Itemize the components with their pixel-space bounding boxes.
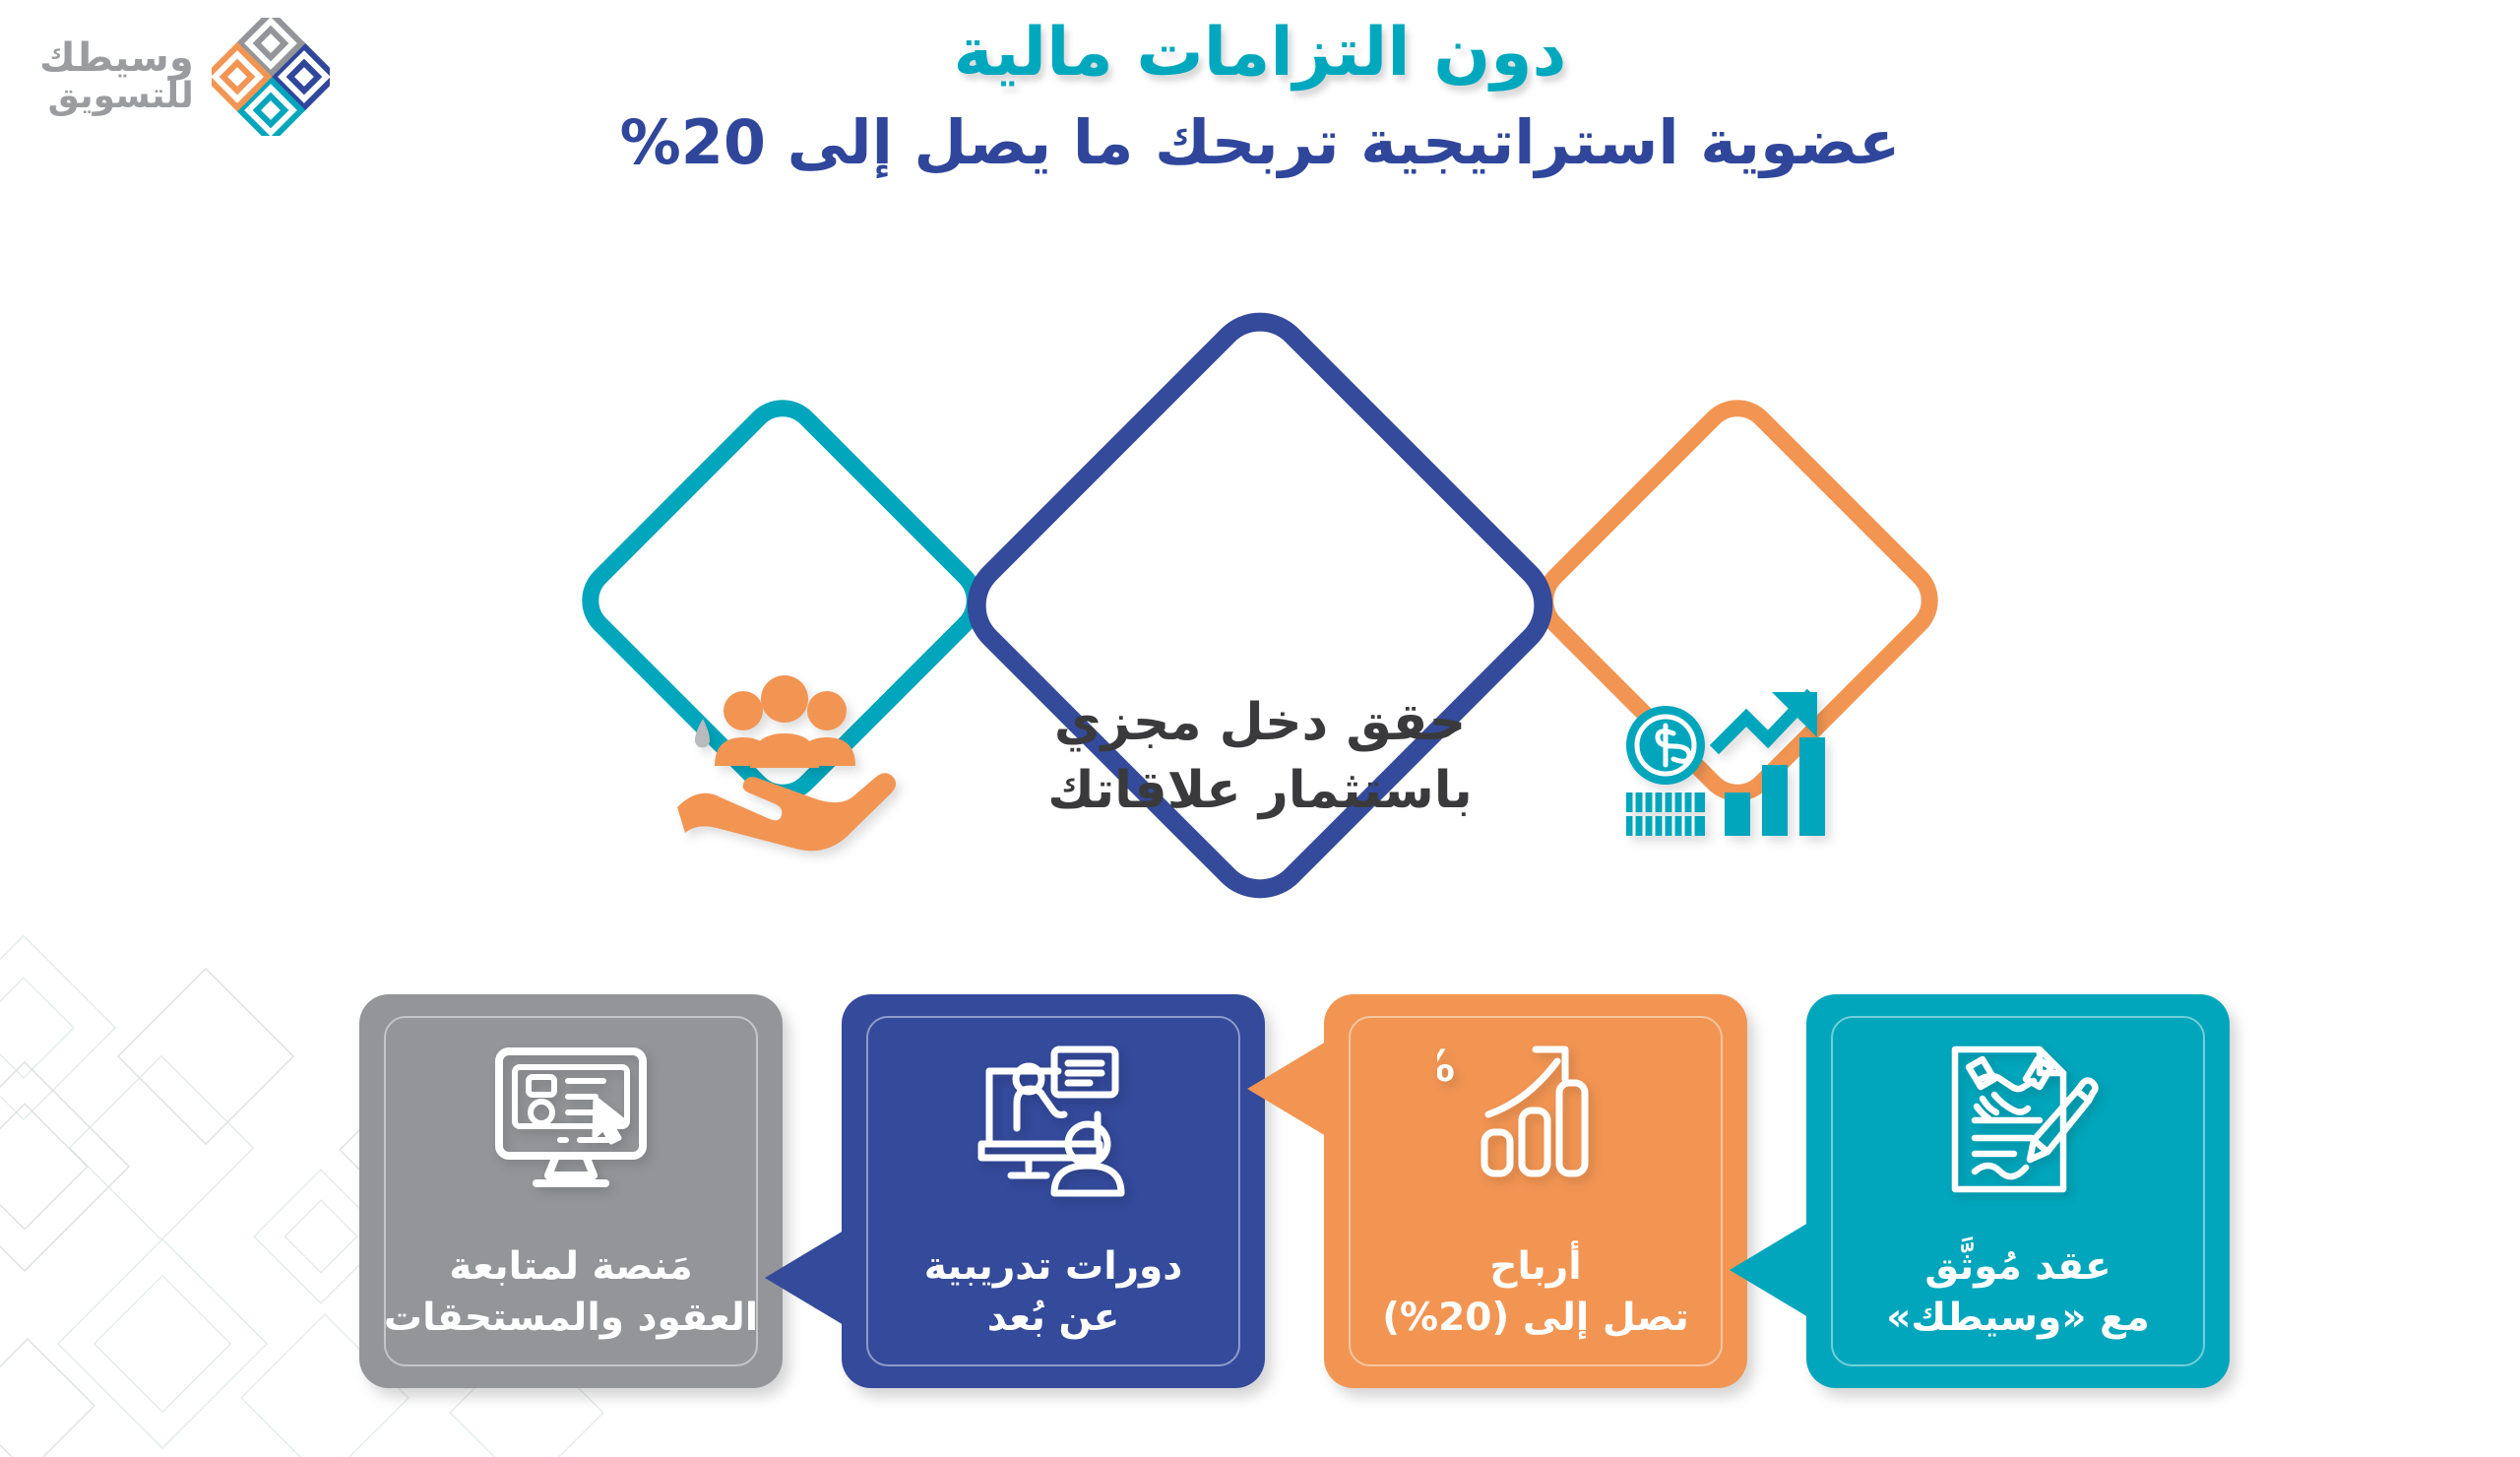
- diamond-center-text-line2: باستثمار علاقاتك: [940, 757, 1580, 825]
- growth-chart-coin-icon: [1614, 684, 1856, 871]
- card-profits-line1: أرباح: [1342, 1241, 1730, 1294]
- card-contract-label: عقد مُوثَّق مع «وسيطك»: [1824, 1241, 2212, 1345]
- monitor-cursor-icon: [359, 1038, 783, 1205]
- diamond-center-message: [940, 285, 1580, 925]
- card-profits-tail: [1247, 1042, 1326, 1136]
- card-contract-line1: عقد مُوثَّق: [1824, 1241, 2212, 1294]
- diamond-center-text-line1: حقق دخل مجزي: [940, 689, 1580, 757]
- card-training-label: دورات تدريبية عن بُعد: [859, 1241, 1247, 1345]
- card-profits[interactable]: 20% أرباح تصل إلى (20%): [1324, 994, 1747, 1388]
- card-contract[interactable]: عقد مُوثَّق مع «وسيطك»: [1806, 994, 2230, 1388]
- card-contract-tail: [1730, 1223, 1808, 1317]
- card-platform-label: مَنصة لمتابعة العقود والمستحقات: [377, 1241, 765, 1345]
- card-training-line1: دورات تدريبية: [859, 1241, 1247, 1294]
- card-platform-line2: العقود والمستحقات: [377, 1293, 765, 1345]
- diamond-center-text: حقق دخل مجزي باستثمار علاقاتك: [940, 689, 1580, 824]
- card-contract-line2: مع «وسيطك»: [1824, 1293, 2212, 1345]
- signed-contract-handshake-icon: [1806, 1038, 2230, 1205]
- profits-badge-text: 20%: [1437, 1042, 1455, 1092]
- headline: دون التزامات مالية: [0, 14, 2520, 92]
- online-training-icon: [842, 1038, 1265, 1205]
- subheadline: عضوية استراتيجية تربحك ما يصل إلى 20%: [0, 106, 2520, 178]
- card-training-tail: [765, 1231, 844, 1325]
- card-profits-label: أرباح تصل إلى (20%): [1342, 1241, 1730, 1345]
- card-platform-line1: مَنصة لمتابعة: [377, 1241, 765, 1294]
- card-profits-line2: تصل إلى (20%): [1342, 1293, 1730, 1345]
- infographic-canvas: وسيطك للتسويق دون التزامات مالية عضوية ا…: [0, 0, 2520, 1418]
- bar-chart-arrow-icon: 20%: [1324, 1038, 1747, 1195]
- card-platform[interactable]: مَنصة لمتابعة العقود والمستحقات: [359, 994, 783, 1388]
- diamond-group: حقق دخل مجزي باستثمار علاقاتك: [0, 172, 2520, 783]
- card-training[interactable]: دورات تدريبية عن بُعد: [842, 994, 1265, 1388]
- people-in-hand-icon: [669, 660, 896, 852]
- card-training-line2: عن بُعد: [859, 1293, 1247, 1345]
- benefit-cards: مَنصة لمتابعة العقود والمستحقات: [0, 975, 2520, 1418]
